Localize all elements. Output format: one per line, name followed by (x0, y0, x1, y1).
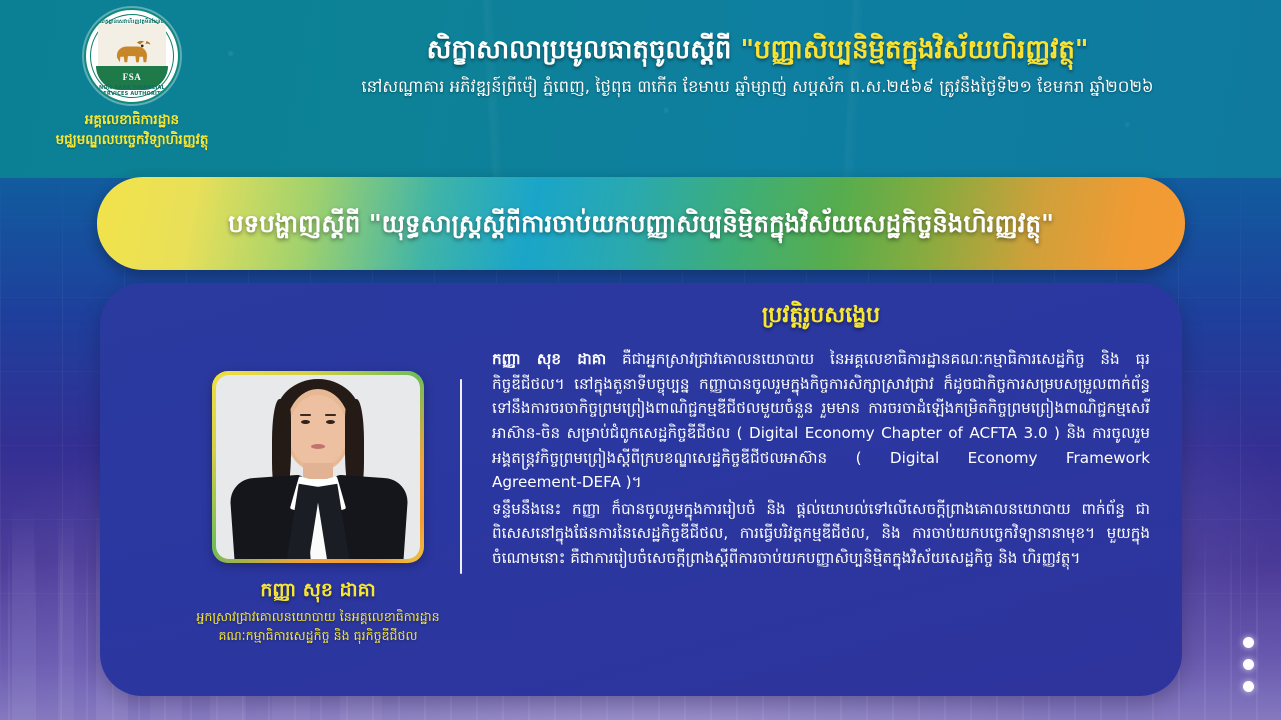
vertical-divider (460, 379, 462, 574)
page-title: សិក្ខាសាលាប្រមូលធាតុចូលស្តីពី "បញ្ញាសិប្… (248, 34, 1267, 67)
biography-heading: ប្រវត្តិរូបសង្ខេប (492, 301, 1150, 333)
portrait-eye-left (301, 420, 310, 424)
biography-paragraph-2: ទន្ទឹមនឹងនេះ កញ្ញា ក៏បានចូលរួមក្នុងការរៀ… (492, 497, 1150, 571)
biography-paragraph-1: កញ្ញា សុខ ដាគា គឺជាអ្នកស្រាវជ្រាវគោលនយោប… (492, 347, 1150, 495)
portrait-face (289, 395, 347, 467)
bull-icon (111, 37, 153, 67)
page-title-highlight: "បញ្ញាសិប្បនិម្មិតក្នុងវិស័យហិរញ្ញវត្ថុ" (740, 35, 1088, 65)
organization-name-line1: អគ្គលេខាធិការដ្ឋាន (22, 111, 242, 131)
page-subtitle: នៅសណ្ឋាគារ អភិវឌ្ឍន៍ព្រីម៉ៀ ភ្នំពេញ, ថ្ង… (248, 76, 1267, 97)
speaker-portrait-column: កញ្ញា សុខ ដាគា អ្នកស្រាវជ្រាវគោលនយោបាយ ន… (162, 371, 474, 646)
organization-name-line2: មជ្ឈមណ្ឌលបច្ចេកវិទ្យាហិរញ្ញវត្ថុ (22, 131, 242, 151)
speaker-name: កញ្ញា សុខ ដាគា (162, 579, 474, 603)
biography-column: ប្រវត្តិរូបសង្ខេប កញ្ញា សុខ ដាគា គឺជាអ្ន… (492, 301, 1150, 573)
organization-logo-block: អគ្គនាយកដ្ឋានសេវាហិរញ្ញវត្ថុមិនមែនធនាគារ… (22, 8, 242, 150)
page-title-prefix: សិក្ខាសាលាប្រមូលធាតុចូលស្តីពី (427, 35, 741, 65)
speaker-profile-panel: កញ្ញា សុខ ដាគា អ្នកស្រាវជ្រាវគោលនយោបាយ ន… (100, 283, 1182, 696)
pagination-dot-1[interactable] (1243, 637, 1254, 648)
pagination-dot-2[interactable] (1243, 659, 1254, 670)
portrait-mouth (311, 444, 325, 449)
speaker-role-line1: អ្នកស្រាវជ្រាវគោលនយោបាយ នៃអគ្គលេខាធិការដ… (162, 608, 474, 627)
biography-body: កញ្ញា សុខ ដាគា គឺជាអ្នកស្រាវជ្រាវគោលនយោប… (492, 347, 1150, 571)
speaker-photo (216, 375, 420, 559)
speaker-photo-frame (212, 371, 424, 563)
presentation-topic-text: បទបង្ហាញស្តីពី "យុទ្ធសាស្ត្រស្តីពីការចាប… (192, 209, 1090, 238)
slide-header: អគ្គនាយកដ្ឋានសេវាហិរញ្ញវត្ថុមិនមែនធនាគារ… (0, 0, 1281, 178)
seal-abbr-text: FSA (86, 72, 178, 82)
biography-name-bold: កញ្ញា សុខ ដាគា (492, 350, 606, 368)
speaker-role-line2: គណៈកម្មាធិការសេដ្ឋកិច្ច និង ធុរកិច្ចឌីជី… (162, 627, 474, 646)
seal-arc-bottom-text: NON-BANK FINANCIAL SERVICES AUTHORITY (86, 85, 178, 97)
header-title-block: សិក្ខាសាលាប្រមូលធាតុចូលស្តីពី "បញ្ញាសិប្… (248, 34, 1267, 97)
slide-root: អគ្គនាយកដ្ឋានសេវាហិរញ្ញវត្ថុមិនមែនធនាគារ… (0, 0, 1281, 720)
biography-paragraph-1-text: គឺជាអ្នកស្រាវជ្រាវគោលនយោបាយ នៃអគ្គលេខាធិ… (492, 350, 1150, 491)
pagination-dots[interactable] (1243, 637, 1254, 692)
fsa-seal-logo: អគ្គនាយកដ្ឋានសេវាហិរញ្ញវត្ថុមិនមែនធនាគារ… (84, 8, 180, 104)
portrait-eye-right (326, 420, 335, 424)
presentation-topic-banner: បទបង្ហាញស្តីពី "យុទ្ធសាស្ត្រស្តីពីការចាប… (97, 177, 1185, 270)
pagination-dot-3[interactable] (1243, 681, 1254, 692)
